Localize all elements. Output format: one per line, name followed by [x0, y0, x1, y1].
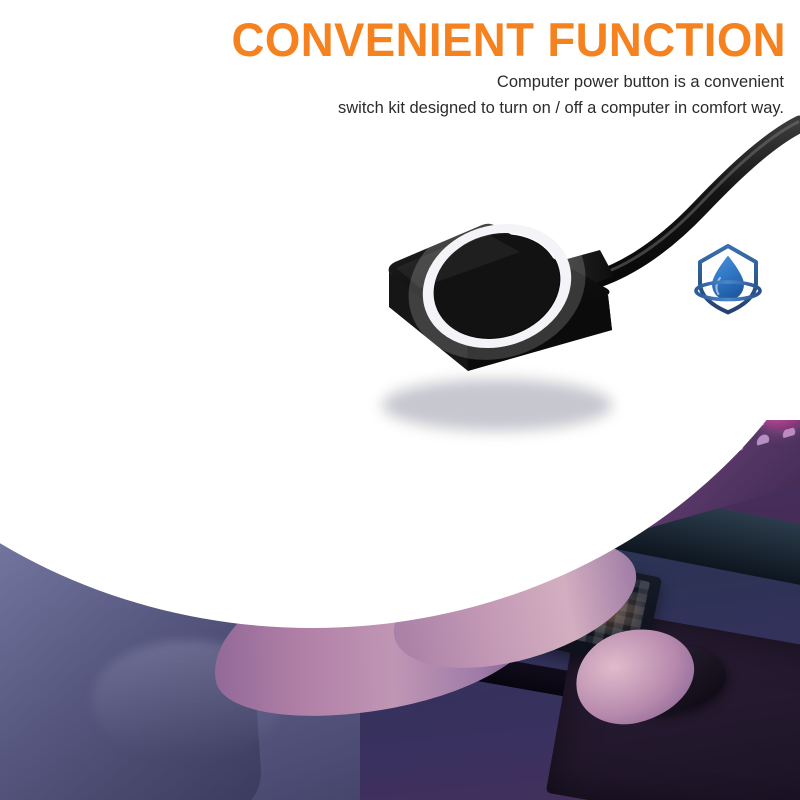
subtitle-block: Computer power button is a convenient sw… [224, 70, 784, 121]
water-droplet-icon [712, 256, 744, 301]
subtitle-line-2: switch kit designed to turn on / off a c… [224, 96, 784, 122]
product-marketing-banner: CONVENIENT FUNCTION Computer power butto… [0, 0, 800, 800]
page-title: CONVENIENT FUNCTION [24, 16, 786, 63]
subtitle-line-1: Computer power button is a convenient [497, 73, 784, 91]
waterproof-shield-icon [688, 238, 768, 318]
